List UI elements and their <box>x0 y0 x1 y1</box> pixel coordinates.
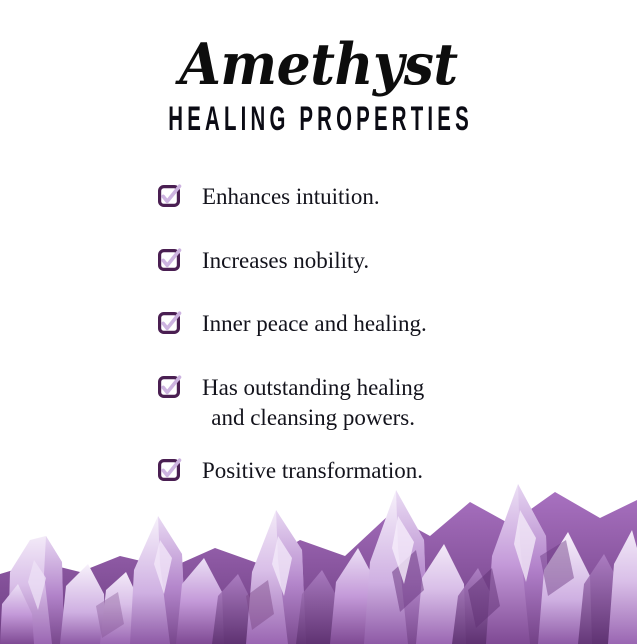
amethyst-crystal-cluster-image <box>0 444 637 644</box>
list-item-label: Increases nobility. <box>202 246 369 277</box>
page-subtitle: HEALING PROPERTIES <box>127 102 509 136</box>
list-item: Increases nobility. <box>0 246 637 277</box>
list-item-label: Inner peace and healing. <box>202 309 427 340</box>
header: Amethyst HEALING PROPERTIES <box>0 0 637 136</box>
checked-checkbox-icon <box>158 249 180 271</box>
list-item: Has outstanding healing and cleansing po… <box>0 373 637 434</box>
page-title: Amethyst <box>19 36 618 93</box>
list-item: Inner peace and healing. <box>0 309 637 340</box>
checked-checkbox-icon <box>158 376 180 398</box>
checked-checkbox-icon <box>158 312 180 334</box>
list-item-label: Has outstanding healing and cleansing po… <box>202 373 424 434</box>
list-item-label: Enhances intuition. <box>202 182 380 213</box>
checked-checkbox-icon <box>158 185 180 207</box>
amethyst-healing-properties-poster: Amethyst HEALING PROPERTIES Enhances int… <box>0 0 637 644</box>
list-item: Enhances intuition. <box>0 182 637 213</box>
